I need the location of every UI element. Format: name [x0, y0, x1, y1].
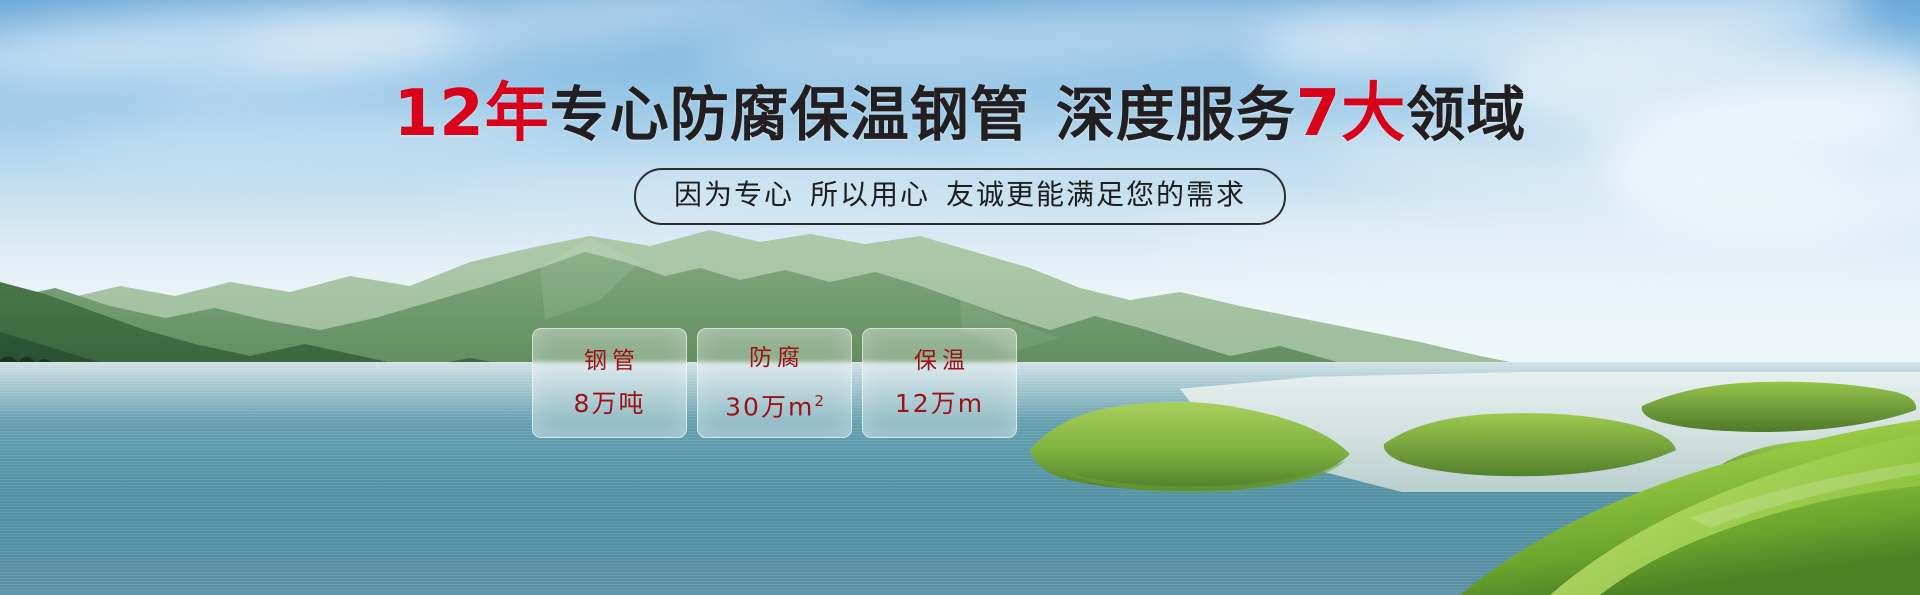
stat-card-group: 钢管 8万吨 防腐 30万m2 保温 12万m [532, 328, 1017, 438]
stat-label: 防腐 [744, 345, 805, 371]
stat-card-insulation[interactable]: 保温 12万m [862, 328, 1017, 438]
headline-main-second: 深度服务 [1056, 80, 1296, 149]
stat-label: 保温 [909, 348, 970, 374]
subtitle-part-1: 因为专心 [674, 178, 794, 211]
stat-value-superscript: 2 [814, 392, 824, 410]
hero-banner: 12年专心防腐保温钢管深度服务7大领域 因为专心所以用心友诚更能满足您的需求 钢… [0, 0, 1920, 595]
stat-value: 30万m2 [725, 387, 824, 421]
subtitle-pill: 因为专心所以用心友诚更能满足您的需求 [634, 168, 1286, 225]
stat-value: 8万吨 [574, 390, 646, 418]
stat-card-anticorrosion[interactable]: 防腐 30万m2 [697, 328, 852, 438]
stat-value-text: 30万m [725, 392, 814, 421]
headline-main-first: 专心防腐保温钢管 [550, 80, 1030, 149]
headline-years-red: 12年 [394, 77, 550, 151]
subtitle-part-3: 友诚更能满足您的需求 [946, 178, 1246, 211]
page-title: 12年专心防腐保温钢管深度服务7大领域 [0, 83, 1920, 146]
headline-main-third: 领域 [1406, 80, 1526, 149]
grass-bank-foreground [1130, 400, 1920, 595]
stat-label: 钢管 [579, 348, 640, 374]
stat-card-steel-pipe[interactable]: 钢管 8万吨 [532, 328, 687, 438]
subtitle-part-2: 所以用心 [810, 178, 930, 211]
stat-value-text: 12万m [895, 389, 984, 418]
stat-value-text: 8万吨 [574, 389, 646, 418]
stat-value: 12万m [895, 390, 984, 418]
headline-seven-red: 7大 [1296, 77, 1407, 151]
